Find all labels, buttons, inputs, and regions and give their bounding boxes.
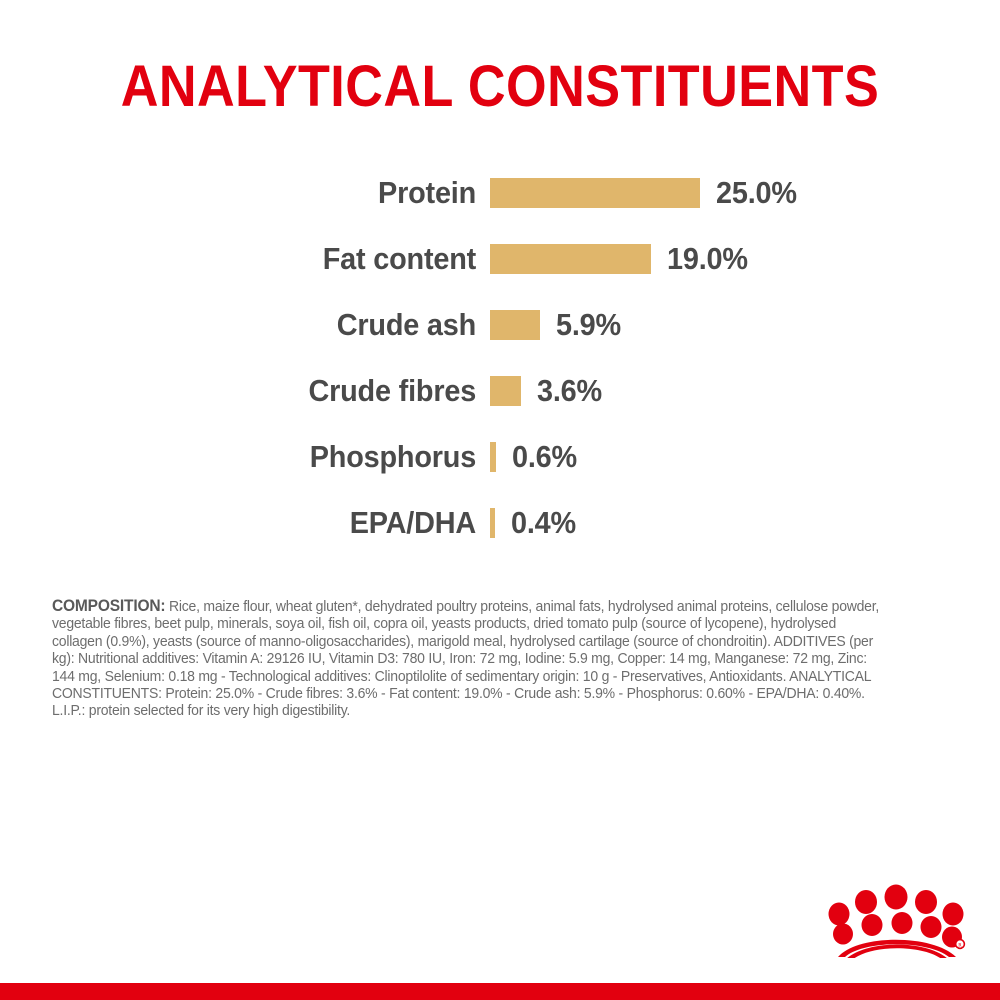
composition-paragraph: COMPOSITION: Rice, maize flour, wheat gl… — [52, 598, 883, 721]
bar-value-crude-ash: 5.9% — [556, 308, 621, 342]
bar-track: 19.0% — [490, 242, 1000, 276]
bar-track: 0.4% — [490, 506, 1000, 540]
bar-track: 3.6% — [490, 374, 1000, 408]
table-row: EPA/DHA 0.4% — [0, 490, 1000, 556]
bar-value-phosphorus: 0.6% — [512, 440, 577, 474]
bar-value-crude-fibres: 3.6% — [537, 374, 602, 408]
royal-canin-crown-logo: R — [828, 882, 968, 958]
bar-fill-crude-ash — [490, 310, 540, 340]
bar-label-protein: Protein — [34, 176, 490, 210]
table-row: Fat content 19.0% — [0, 226, 1000, 292]
registered-trademark-icon: R — [955, 939, 965, 949]
composition-heading: COMPOSITION: — [52, 597, 165, 615]
bar-fill-epa-dha — [490, 508, 495, 538]
bar-fill-phosphorus — [490, 442, 496, 472]
page-root: ANALYTICAL CONSTITUENTS Protein 25.0% Fa… — [0, 0, 1000, 1000]
bar-fill-crude-fibres — [490, 376, 521, 406]
bar-track: 5.9% — [490, 308, 1000, 342]
bottom-accent-bar — [0, 983, 1000, 1000]
bar-track: 0.6% — [490, 440, 1000, 474]
svg-text:R: R — [958, 943, 962, 949]
bar-fill-protein — [490, 178, 700, 208]
bar-label-fat-content: Fat content — [34, 242, 490, 276]
bar-fill-fat-content — [490, 244, 651, 274]
bar-value-fat-content: 19.0% — [667, 242, 748, 276]
bar-value-epa-dha: 0.4% — [511, 506, 576, 540]
table-row: Phosphorus 0.6% — [0, 424, 1000, 490]
bar-label-crude-fibres: Crude fibres — [34, 374, 490, 408]
bar-label-crude-ash: Crude ash — [34, 308, 490, 342]
analytical-constituents-chart: Protein 25.0% Fat content 19.0% Crude as… — [0, 160, 1000, 556]
table-row: Protein 25.0% — [0, 160, 1000, 226]
composition-body: Rice, maize flour, wheat gluten*, dehydr… — [52, 599, 879, 719]
bar-track: 25.0% — [490, 176, 1000, 210]
bar-label-epa-dha: EPA/DHA — [34, 506, 490, 540]
page-title: ANALYTICAL CONSTITUENTS — [50, 56, 950, 118]
table-row: Crude fibres 3.6% — [0, 358, 1000, 424]
table-row: Crude ash 5.9% — [0, 292, 1000, 358]
bar-label-phosphorus: Phosphorus — [34, 440, 490, 474]
bar-value-protein: 25.0% — [716, 176, 797, 210]
